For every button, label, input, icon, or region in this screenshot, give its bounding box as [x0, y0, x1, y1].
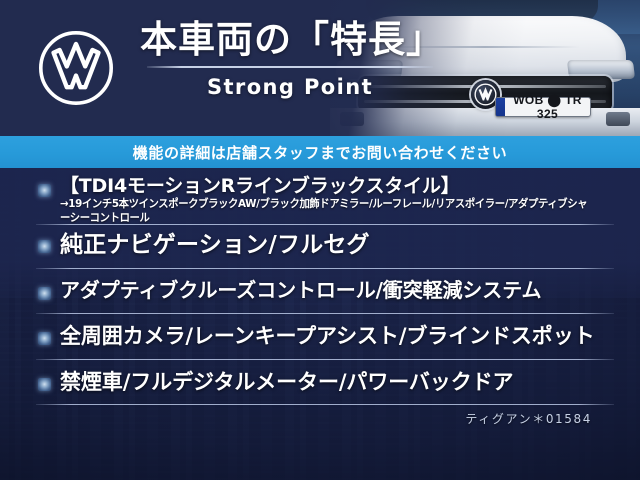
vehicle-model-code: ティグアン＊01584 [465, 412, 592, 426]
vehicle-feature-poster: WOB ⬤ TR 325 本車両の「特長」 Strong Point 機能の詳細… [0, 0, 640, 480]
feature-text-group: 禁煙車/フルデジタルメーター/パワーバックドア [60, 369, 628, 396]
list-divider [36, 224, 614, 225]
page-title: 本車両の「特長」 [140, 20, 440, 60]
feature-title: 全周囲カメラ/レーンキープアシスト/ブラインドスポット [60, 323, 628, 350]
feature-title: 純正ナビゲーション/フルセグ [60, 231, 628, 261]
feature-text-group: アダプティブクルーズコントロール/衝突軽減システム [60, 278, 628, 304]
license-plate-eu-band [496, 98, 505, 116]
contact-banner: 機能の詳細は店舗スタッフまでお問い合わせください [0, 136, 640, 168]
car-bumper [330, 108, 640, 136]
feature-text-group: 全周囲カメラ/レーンキープアシスト/ブラインドスポット [60, 323, 628, 350]
square-bullet-icon [38, 240, 51, 253]
feature-text-group: 【TDI4モーションRラインブラックスタイル】 →19インチ5本ツインスポークブ… [60, 175, 628, 224]
feature-list: 【TDI4モーションRラインブラックスタイル】 →19インチ5本ツインスポークブ… [0, 168, 640, 428]
square-bullet-icon [38, 287, 51, 300]
feature-title: アダプティブクルーズコントロール/衝突軽減システム [60, 278, 628, 304]
car-fog-light-left [340, 112, 364, 126]
list-item: 全周囲カメラ/レーンキープアシスト/ブラインドスポット [0, 314, 640, 359]
poster-header: WOB ⬤ TR 325 本車両の「特長」 Strong Point [0, 0, 640, 136]
page-subtitle: Strong Point [140, 75, 440, 99]
feature-text-group: 純正ナビゲーション/フルセグ [60, 231, 628, 261]
feature-title: 禁煙車/フルデジタルメーター/パワーバックドア [60, 369, 628, 396]
car-fog-light-right [606, 112, 630, 126]
poster-footer: ティグアン＊01584 [0, 405, 640, 428]
license-plate-number: WOB ⬤ TR 325 [505, 93, 590, 121]
list-divider [36, 313, 614, 314]
list-divider [36, 268, 614, 269]
volkswagen-logo-icon [36, 28, 116, 108]
feature-detail: →19インチ5本ツインスポークブラックAW/ブラック加飾ドアミラー/ルーフレール… [60, 197, 594, 224]
list-item: 禁煙車/フルデジタルメーター/パワーバックドア [0, 360, 640, 405]
header-title-block: 本車両の「特長」 Strong Point [140, 20, 440, 99]
list-item: 純正ナビゲーション/フルセグ [0, 225, 640, 268]
list-item: 【TDI4モーションRラインブラックスタイル】 →19インチ5本ツインスポークブ… [0, 168, 640, 224]
list-divider [36, 359, 614, 360]
license-plate: WOB ⬤ TR 325 [495, 97, 591, 117]
list-item: アダプティブクルーズコントロール/衝突軽減システム [0, 269, 640, 313]
square-bullet-icon [38, 332, 51, 345]
square-bullet-icon [38, 378, 51, 391]
contact-banner-text: 機能の詳細は店舗スタッフまでお問い合わせください [133, 142, 507, 163]
square-bullet-icon [38, 184, 51, 197]
feature-title: 【TDI4モーションRラインブラックスタイル】 [60, 175, 628, 197]
feature-body: 【TDI4モーションRラインブラックスタイル】 →19インチ5本ツインスポークブ… [0, 168, 640, 480]
title-divider [147, 66, 433, 68]
